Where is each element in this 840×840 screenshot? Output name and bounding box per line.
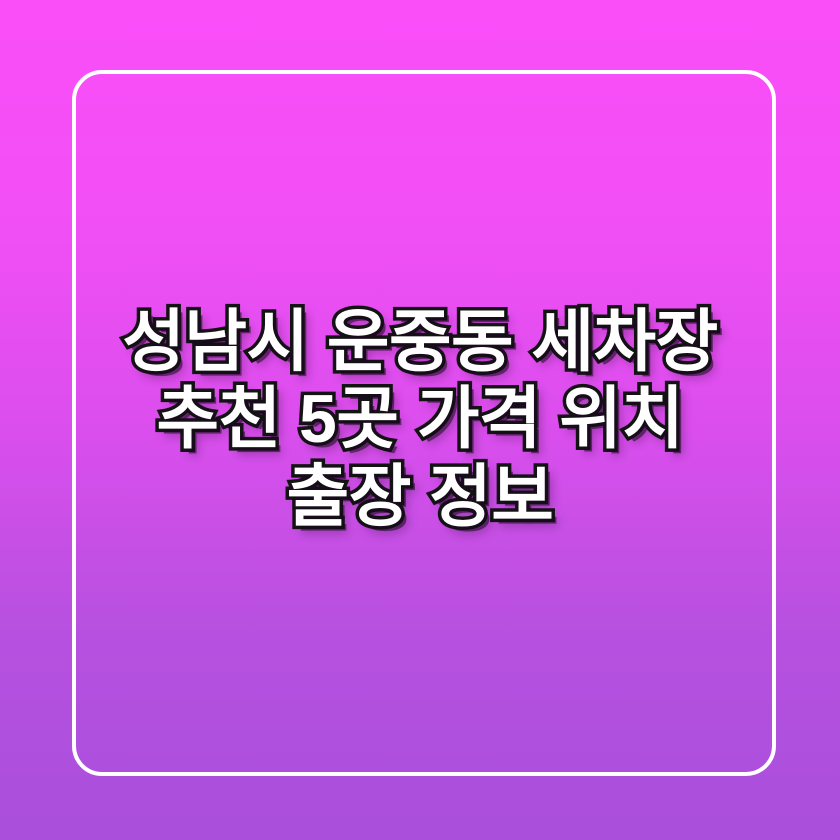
- title-line-2: 추천 5곳 가격 위치: [60, 381, 780, 459]
- title-block: 성남시 운중동 세차장 추천 5곳 가격 위치 출장 정보: [0, 0, 840, 840]
- title-line-1: 성남시 운중동 세차장: [60, 304, 780, 382]
- poster-canvas: 성남시 운중동 세차장 추천 5곳 가격 위치 출장 정보: [0, 0, 840, 840]
- title-line-3: 출장 정보: [60, 459, 780, 537]
